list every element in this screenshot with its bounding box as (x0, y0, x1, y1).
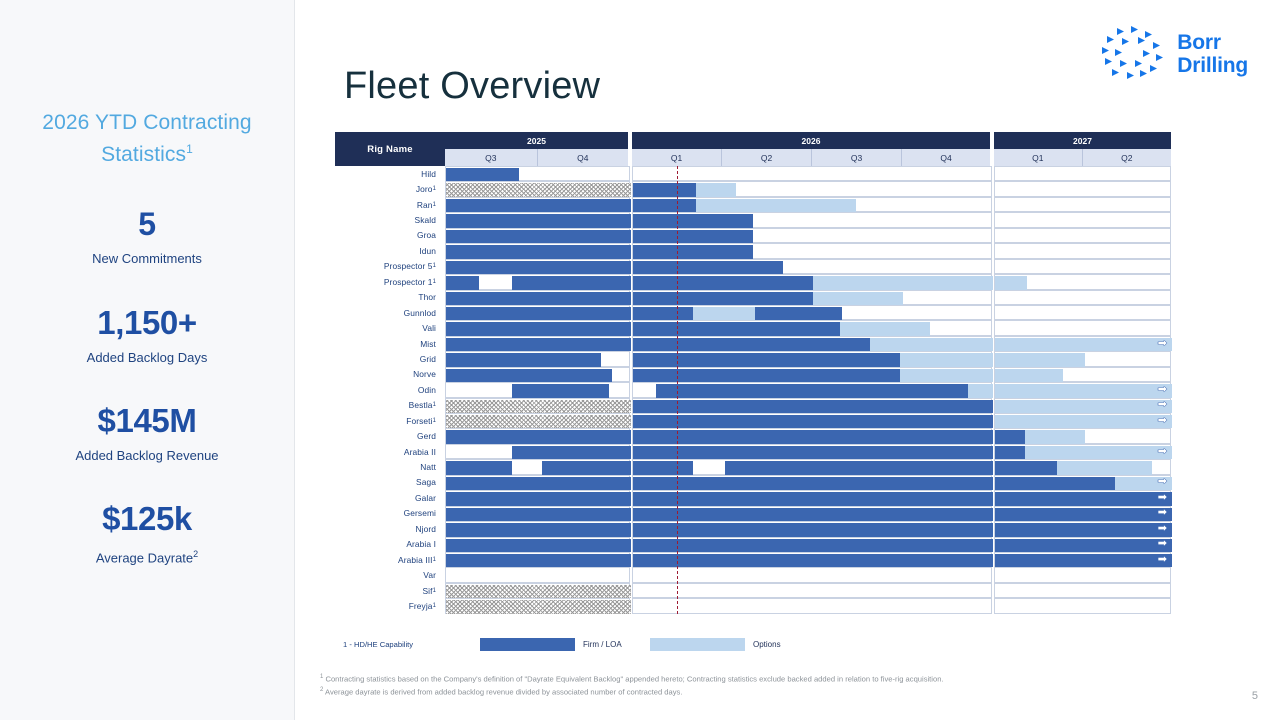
gantt-block-2025 (445, 181, 630, 196)
gantt-segment-firm[interactable] (995, 446, 1025, 459)
gantt-segment-firm[interactable] (633, 322, 840, 335)
gantt-block-2026 (632, 212, 992, 227)
gantt-track[interactable]: ➡ (445, 336, 1171, 351)
gantt-block-2026 (632, 537, 992, 552)
gantt-segment-firm[interactable] (446, 307, 631, 320)
gantt-row[interactable]: Prospector 1 1 (335, 274, 1171, 289)
continues-arrow-icon: ➡ (1158, 554, 1167, 565)
gantt-track[interactable] (445, 367, 1171, 382)
legend-label-firm: Firm / LOA (583, 640, 622, 649)
gantt-track[interactable]: ➡ (445, 521, 1171, 536)
gantt-segment-opt[interactable] (968, 384, 993, 397)
rig-name-label: Njord (335, 521, 445, 536)
gantt-block-2027: ➡ (994, 336, 1171, 351)
gantt-segment-opt[interactable] (870, 338, 993, 351)
legend-swatch-firm (480, 638, 575, 651)
gantt-segment-firm[interactable] (633, 292, 813, 305)
gantt-segment-firm[interactable] (633, 415, 993, 428)
gantt-track[interactable]: ➡ (445, 506, 1171, 521)
gantt-block-2026 (632, 521, 992, 536)
stat-label-text: Added Backlog Days (87, 350, 208, 365)
gantt-segment-firm[interactable] (633, 508, 993, 521)
gantt-block-2027 (994, 243, 1171, 258)
gantt-segment-firm[interactable] (633, 369, 900, 382)
rig-name-label: Var (335, 567, 445, 582)
quarter-header-2025-Q4: Q4 (538, 149, 631, 166)
gantt-segment-firm[interactable] (633, 539, 993, 552)
gantt-block-2027 (994, 305, 1171, 320)
rig-name-label: Sif 1 (335, 583, 445, 598)
gantt-segment-firm[interactable] (446, 539, 631, 552)
gantt-segment-firm[interactable] (446, 477, 631, 490)
gantt-segment-opt[interactable] (900, 353, 993, 366)
gantt-track[interactable]: ➡ (445, 398, 1171, 413)
gantt-segment-firm[interactable] (995, 430, 1025, 443)
gantt-segment-opt[interactable] (840, 322, 930, 335)
gantt-block-2027 (994, 583, 1171, 598)
gantt-segment-firm[interactable] (633, 400, 993, 413)
gantt-segment-hatch[interactable] (446, 415, 631, 428)
gantt-block-2026 (632, 166, 992, 181)
gantt-block-2025 (445, 212, 630, 227)
gantt-block-2025 (445, 382, 630, 397)
sidebar-title-text: 2026 YTD Contracting Statistics (42, 111, 251, 166)
rig-name-label: Gerd (335, 428, 445, 443)
gantt-row[interactable]: Bestla 1➡ (335, 398, 1171, 413)
gantt-segment-hatch[interactable] (446, 183, 631, 196)
stat-value: 1,150+ (22, 305, 272, 341)
gantt-row[interactable]: Arabia III 1➡ (335, 552, 1171, 567)
gantt-block-2025 (445, 459, 630, 474)
gantt-track[interactable]: ➡ (445, 537, 1171, 552)
gantt-segment-firm[interactable] (446, 214, 631, 227)
gantt-track[interactable]: ➡ (445, 413, 1171, 428)
quarter-header-2027-Q1: Q1 (994, 149, 1083, 166)
gantt-track[interactable] (445, 274, 1171, 289)
continues-arrow-icon: ➡ (1158, 477, 1167, 488)
gantt-track[interactable] (445, 259, 1171, 274)
gantt-block-2025 (445, 567, 630, 582)
gantt-track[interactable] (445, 228, 1171, 243)
gantt-block-2025 (445, 274, 630, 289)
gantt-block-2027 (994, 428, 1171, 443)
quarter-header-row: Q3Q4Q1Q2Q3Q4Q1Q2 (445, 149, 1171, 166)
rig-name-label: Odin (335, 382, 445, 397)
gantt-block-2026 (632, 398, 992, 413)
sidebar-title-footnote-marker: 1 (186, 142, 193, 156)
gantt-block-2026 (632, 274, 992, 289)
gantt-segment-firm[interactable] (446, 168, 519, 181)
gantt-row[interactable]: Prospector 5 1 (335, 259, 1171, 274)
page-title: Fleet Overview (344, 65, 600, 108)
gantt-row[interactable]: Saga➡ (335, 475, 1171, 490)
gantt-track[interactable] (445, 351, 1171, 366)
gantt-block-2027 (994, 320, 1171, 335)
rig-name-label: Arabia II (335, 444, 445, 459)
gantt-block-2025 (445, 521, 630, 536)
gantt-block-2027 (994, 598, 1171, 613)
gantt-block-2027 (994, 290, 1171, 305)
stat-added-backlog-revenue: $145M Added Backlog Revenue (22, 403, 272, 464)
chart-header: Rig Name 202520262027 Q3Q4Q1Q2Q3Q4Q1Q2 (335, 132, 1171, 166)
gantt-segment-firm[interactable] (633, 523, 993, 536)
year-header-2026: 2026 (632, 132, 992, 149)
gantt-row[interactable]: Grid (335, 351, 1171, 366)
gantt-block-2025 (445, 351, 630, 366)
fleet-gantt-chart: Rig Name 202520262027 Q3Q4Q1Q2Q3Q4Q1Q2 H… (335, 132, 1171, 614)
rig-footnote-marker: 1 (433, 263, 436, 269)
gantt-segment-firm[interactable] (446, 523, 631, 536)
gantt-block-2025 (445, 228, 630, 243)
gantt-segment-firm[interactable] (633, 477, 993, 490)
gantt-segment-firm[interactable] (633, 307, 693, 320)
continues-arrow-icon: ➡ (1158, 415, 1167, 426)
gantt-row[interactable]: Mist➡ (335, 336, 1171, 351)
gantt-segment-firm[interactable] (446, 199, 631, 212)
gantt-block-2025 (445, 444, 630, 459)
gantt-segment-firm[interactable] (633, 214, 753, 227)
gantt-track[interactable]: ➡ (445, 444, 1171, 459)
gantt-block-2025 (445, 583, 630, 598)
gantt-segment-firm[interactable] (446, 261, 631, 274)
gantt-row[interactable]: Thor (335, 290, 1171, 305)
gantt-segment-firm[interactable] (995, 492, 1172, 505)
gantt-block-2025 (445, 537, 630, 552)
continues-arrow-icon: ➡ (1158, 523, 1167, 534)
gantt-segment-firm[interactable] (656, 384, 968, 397)
gantt-block-2026 (632, 567, 992, 582)
gantt-row[interactable]: Joro 1 (335, 181, 1171, 196)
gantt-track[interactable] (445, 598, 1171, 613)
gantt-segment-firm[interactable] (995, 554, 1172, 567)
gantt-rows: HildJoro 1Ran 1SkaldGroaIdunProspector 5… (335, 166, 1171, 614)
quarter-header-2026-Q2: Q2 (722, 149, 812, 166)
gantt-segment-firm[interactable] (446, 461, 512, 474)
rig-name-label: Bestla 1 (335, 398, 445, 413)
gantt-track[interactable]: ➡ (445, 475, 1171, 490)
gantt-segment-opt[interactable] (995, 353, 1085, 366)
gantt-row[interactable]: Sif 1 (335, 583, 1171, 598)
rig-footnote-marker: 1 (433, 418, 436, 424)
gantt-block-2026 (632, 552, 992, 567)
gantt-segment-firm[interactable] (633, 183, 696, 196)
gantt-segment-firm[interactable] (446, 430, 631, 443)
stat-label-text: Added Backlog Revenue (75, 448, 218, 463)
continues-arrow-icon: ➡ (1158, 446, 1167, 457)
gantt-segment-firm[interactable] (633, 338, 870, 351)
gantt-block-2026 (632, 382, 992, 397)
gantt-segment-opt[interactable] (813, 276, 993, 289)
continues-arrow-icon: ➡ (1158, 492, 1167, 503)
gantt-segment-opt[interactable] (1025, 446, 1172, 459)
gantt-block-2025 (445, 475, 630, 490)
gantt-block-2027: ➡ (994, 506, 1171, 521)
sidebar-title: 2026 YTD Contracting Statistics1 (37, 110, 257, 168)
rig-name-label: Saga (335, 475, 445, 490)
continues-arrow-icon: ➡ (1158, 384, 1167, 395)
gantt-block-2026 (632, 305, 992, 320)
gantt-row[interactable]: Galar➡ (335, 490, 1171, 505)
gantt-segment-firm[interactable] (512, 446, 631, 459)
footnote-1: 1 Contracting statistics based on the Co… (320, 672, 1220, 685)
gantt-block-2026 (632, 413, 992, 428)
gantt-segment-opt[interactable] (693, 307, 755, 320)
gantt-segment-opt[interactable] (696, 183, 736, 196)
rig-name-label: Thor (335, 290, 445, 305)
column-header-rig-name: Rig Name (335, 132, 445, 166)
gantt-segment-firm[interactable] (446, 292, 631, 305)
rig-name-label: Joro 1 (335, 181, 445, 196)
stat-value: $145M (22, 403, 272, 439)
rig-footnote-marker: 1 (433, 186, 436, 192)
gantt-block-2026 (632, 598, 992, 613)
rig-name-label: Grid (335, 351, 445, 366)
rig-name-label: Prospector 1 1 (335, 274, 445, 289)
gantt-segment-firm[interactable] (446, 508, 631, 521)
gantt-block-2026 (632, 320, 992, 335)
gantt-block-2027 (994, 351, 1171, 366)
gantt-block-2026 (632, 181, 992, 196)
gantt-block-2027 (994, 166, 1171, 181)
gantt-row[interactable]: Vali (335, 320, 1171, 335)
quarter-header-2025-Q3: Q3 (445, 149, 538, 166)
gantt-segment-firm[interactable] (633, 276, 813, 289)
quarter-header-2027-Q2: Q2 (1083, 149, 1172, 166)
gantt-row[interactable]: Njord➡ (335, 521, 1171, 536)
gantt-track[interactable] (445, 290, 1171, 305)
gantt-block-2025 (445, 552, 630, 567)
gantt-segment-firm[interactable] (995, 523, 1172, 536)
gantt-segment-firm[interactable] (446, 322, 631, 335)
gantt-segment-firm[interactable] (446, 338, 631, 351)
gantt-segment-hatch[interactable] (446, 585, 631, 598)
rig-name-label: Arabia I (335, 537, 445, 552)
gantt-block-2027 (994, 567, 1171, 582)
gantt-segment-hatch[interactable] (446, 600, 631, 613)
gantt-block-2025 (445, 428, 630, 443)
footnote-1-text: Contracting statistics based on the Comp… (325, 675, 943, 684)
rig-name-label: Norve (335, 367, 445, 382)
stat-label: Average Dayrate2 (22, 546, 272, 566)
legend-hd-he-note: 1 - HD/HE Capability (343, 640, 413, 649)
gantt-track[interactable]: ➡ (445, 490, 1171, 505)
rig-name-label: Skald (335, 212, 445, 227)
quarter-header-2026-Q3: Q3 (812, 149, 902, 166)
gantt-block-2027 (994, 212, 1171, 227)
gantt-block-2025 (445, 490, 630, 505)
gantt-segment-firm[interactable] (633, 261, 783, 274)
gantt-segment-firm[interactable] (446, 369, 612, 382)
gantt-row[interactable]: Arabia II➡ (335, 444, 1171, 459)
gantt-block-2026 (632, 367, 992, 382)
gantt-segment-opt[interactable] (696, 199, 856, 212)
gantt-track[interactable] (445, 567, 1171, 582)
gantt-track[interactable] (445, 428, 1171, 443)
gantt-track[interactable] (445, 166, 1171, 181)
gantt-segment-firm[interactable] (446, 245, 631, 258)
rig-footnote-marker: 1 (433, 603, 436, 609)
gantt-row[interactable]: Norve (335, 367, 1171, 382)
gantt-block-2027: ➡ (994, 490, 1171, 505)
gantt-row[interactable]: Var (335, 567, 1171, 582)
rig-name-label: Vali (335, 320, 445, 335)
stat-label-text: Average Dayrate (96, 550, 193, 565)
gantt-block-2026 (632, 583, 992, 598)
gantt-row[interactable]: Odin➡ (335, 382, 1171, 397)
gantt-segment-firm[interactable] (995, 539, 1172, 552)
stat-average-dayrate: $125k Average Dayrate2 (22, 501, 272, 566)
gantt-segment-firm[interactable] (995, 461, 1057, 474)
gantt-segment-firm[interactable] (446, 554, 631, 567)
gantt-row[interactable]: Idun (335, 243, 1171, 258)
rig-name-label: Groa (335, 228, 445, 243)
rig-name-label: Natt (335, 459, 445, 474)
gantt-block-2026 (632, 506, 992, 521)
rig-name-label: Prospector 5 1 (335, 259, 445, 274)
gantt-track[interactable] (445, 197, 1171, 212)
gantt-track[interactable] (445, 320, 1171, 335)
gantt-segment-opt[interactable] (995, 400, 1172, 413)
gantt-segment-firm[interactable] (446, 353, 601, 366)
rig-name-label: Forseti 1 (335, 413, 445, 428)
gantt-segment-firm[interactable] (633, 430, 993, 443)
gantt-block-2026 (632, 490, 992, 505)
gantt-track[interactable] (445, 212, 1171, 227)
gantt-segment-firm[interactable] (512, 276, 631, 289)
gantt-segment-firm[interactable] (633, 492, 993, 505)
gantt-block-2025 (445, 367, 630, 382)
gantt-block-2025 (445, 290, 630, 305)
gantt-block-2027: ➡ (994, 398, 1171, 413)
gantt-segment-opt[interactable] (995, 276, 1027, 289)
gantt-block-2027: ➡ (994, 552, 1171, 567)
logo-dots-icon (1095, 22, 1167, 86)
gantt-track[interactable] (445, 243, 1171, 258)
gantt-track[interactable] (445, 459, 1171, 474)
gantt-segment-opt[interactable] (900, 369, 993, 382)
gantt-block-2027 (994, 259, 1171, 274)
stat-value: 5 (22, 206, 272, 242)
page-number: 5 (1252, 690, 1258, 702)
gantt-block-2025 (445, 336, 630, 351)
gantt-block-2026 (632, 197, 992, 212)
gantt-track[interactable] (445, 181, 1171, 196)
quarter-header-2026-Q1: Q1 (632, 149, 722, 166)
gantt-block-2027 (994, 459, 1171, 474)
rig-name-label: Arabia III 1 (335, 552, 445, 567)
stat-label: Added Backlog Days (22, 350, 272, 366)
gantt-block-2025 (445, 166, 630, 181)
rig-name-label: Galar (335, 490, 445, 505)
gantt-row[interactable]: Hild (335, 166, 1171, 181)
gantt-row[interactable]: Gunnlod (335, 305, 1171, 320)
gantt-block-2025 (445, 598, 630, 613)
gantt-segment-firm[interactable] (633, 199, 696, 212)
gantt-segment-firm[interactable] (633, 353, 900, 366)
gantt-track[interactable]: ➡ (445, 382, 1171, 397)
gantt-segment-opt[interactable] (813, 292, 903, 305)
gantt-row[interactable]: Gerd (335, 428, 1171, 443)
timeline-header: 202520262027 Q3Q4Q1Q2Q3Q4Q1Q2 (445, 132, 1171, 166)
rig-footnote-marker: 1 (433, 557, 436, 563)
rig-footnote-marker: 1 (433, 588, 436, 594)
gantt-block-2026 (632, 243, 992, 258)
continues-arrow-icon: ➡ (1158, 508, 1167, 519)
gantt-row[interactable]: Skald (335, 212, 1171, 227)
gantt-segment-firm[interactable] (633, 245, 753, 258)
gantt-segment-firm[interactable] (995, 508, 1172, 521)
stat-value: $125k (22, 501, 272, 537)
gantt-block-2027 (994, 197, 1171, 212)
year-header-row: 202520262027 (445, 132, 1171, 149)
gantt-segment-firm[interactable] (446, 276, 479, 289)
rig-footnote-marker: 1 (433, 202, 436, 208)
gantt-segment-hatch[interactable] (446, 400, 631, 413)
stat-label: Added Backlog Revenue (22, 448, 272, 464)
rig-name-label: Idun (335, 243, 445, 258)
gantt-segment-firm[interactable] (446, 230, 631, 243)
gantt-segment-firm[interactable] (755, 307, 842, 320)
year-header-2025: 2025 (445, 132, 630, 149)
gantt-segment-firm[interactable] (633, 230, 753, 243)
gantt-segment-firm[interactable] (446, 492, 631, 505)
borr-logo-mark-icon (1095, 22, 1167, 86)
gantt-segment-opt[interactable] (1025, 430, 1085, 443)
stat-new-commitments: 5 New Commitments (22, 206, 272, 267)
gantt-block-2026 (632, 290, 992, 305)
quarter-header-2026-Q4: Q4 (902, 149, 992, 166)
gantt-segment-opt[interactable] (995, 415, 1172, 428)
gantt-row[interactable]: Gersemi➡ (335, 506, 1171, 521)
gantt-segment-firm[interactable] (633, 461, 693, 474)
gantt-block-2025 (445, 259, 630, 274)
gantt-segment-firm[interactable] (512, 384, 609, 397)
gantt-row[interactable]: Arabia I➡ (335, 537, 1171, 552)
gantt-block-2026 (632, 228, 992, 243)
gantt-block-2027: ➡ (994, 475, 1171, 490)
gantt-segment-opt[interactable] (995, 384, 1172, 397)
gantt-segment-firm[interactable] (633, 446, 993, 459)
legend-swatch-options (650, 638, 745, 651)
gantt-segment-opt[interactable] (1057, 461, 1152, 474)
logo-wordmark: Borr Drilling (1177, 31, 1248, 77)
today-marker-line (677, 166, 678, 614)
gantt-segment-firm[interactable] (542, 461, 631, 474)
footnote-2-text: Average dayrate is derived from added ba… (325, 688, 682, 697)
gantt-row[interactable]: Forseti 1➡ (335, 413, 1171, 428)
gantt-segment-firm[interactable] (995, 477, 1115, 490)
gantt-block-2027: ➡ (994, 382, 1171, 397)
gantt-track[interactable] (445, 583, 1171, 598)
rig-footnote-marker: 1 (433, 279, 436, 285)
continues-arrow-icon: ➡ (1158, 539, 1167, 550)
continues-arrow-icon: ➡ (1158, 338, 1167, 349)
gantt-block-2027 (994, 181, 1171, 196)
gantt-segment-opt[interactable] (995, 338, 1172, 351)
gantt-row[interactable]: Freyja 1 (335, 598, 1171, 613)
gantt-row[interactable]: Groa (335, 228, 1171, 243)
gantt-track[interactable] (445, 305, 1171, 320)
gantt-track[interactable]: ➡ (445, 552, 1171, 567)
gantt-segment-opt[interactable] (995, 369, 1063, 382)
borr-drilling-logo: Borr Drilling (1095, 22, 1248, 86)
rig-name-label: Gunnlod (335, 305, 445, 320)
legend-label-options: Options (753, 640, 781, 649)
gantt-row[interactable]: Ran 1 (335, 197, 1171, 212)
gantt-segment-firm[interactable] (725, 461, 993, 474)
gantt-row[interactable]: Natt (335, 459, 1171, 474)
gantt-segment-firm[interactable] (633, 554, 993, 567)
